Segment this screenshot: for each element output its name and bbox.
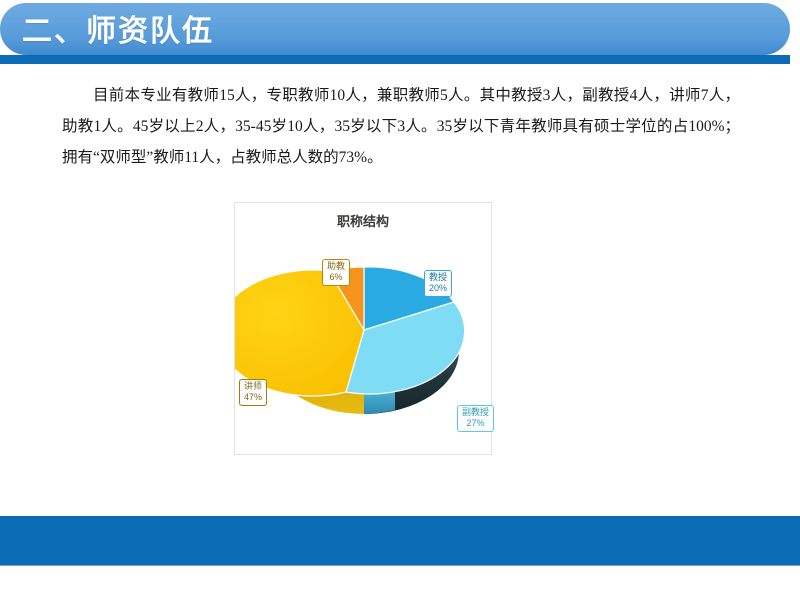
footer-bar [0, 516, 800, 565]
pie-data-label-jiaoshou-name: 教授 [429, 272, 447, 283]
slide-header-bar: 二、师资队伍 [0, 3, 790, 55]
pie-chart-container: 职称结构 [234, 202, 492, 455]
header-accent-underbar [0, 55, 790, 64]
pie-data-label-fujiaoshou-value: 27% [462, 418, 489, 429]
pie-chart-svg [235, 229, 493, 455]
pie-data-label-fujiaoshou-name: 副教授 [462, 407, 489, 418]
pie-data-label-zhujiao-name: 助教 [327, 261, 345, 272]
pie-chart-plot-area: 助教 6% 教授 20% 副教授 27% 讲师 47% [235, 229, 493, 455]
pie-data-label-jiaoshou-value: 20% [429, 283, 447, 294]
pie-data-label-zhujiao-value: 6% [327, 272, 345, 283]
pie-data-label-jiaoshou: 教授 20% [424, 270, 452, 297]
footer-hairline [0, 565, 800, 566]
pie-data-label-fujiaoshou: 副教授 27% [457, 405, 494, 432]
pie-data-label-jiangshi: 讲师 47% [239, 379, 267, 406]
chart-title: 职称结构 [235, 211, 491, 230]
page-title: 二、师资队伍 [22, 6, 214, 50]
body-paragraph: 目前本专业有教师15人，专职教师10人，兼职教师5人。其中教授3人，副教授4人，… [62, 80, 740, 173]
pie-data-label-zhujiao: 助教 6% [322, 259, 350, 286]
pie-data-label-jiangshi-value: 47% [244, 392, 262, 403]
pie-data-label-jiangshi-name: 讲师 [244, 381, 262, 392]
